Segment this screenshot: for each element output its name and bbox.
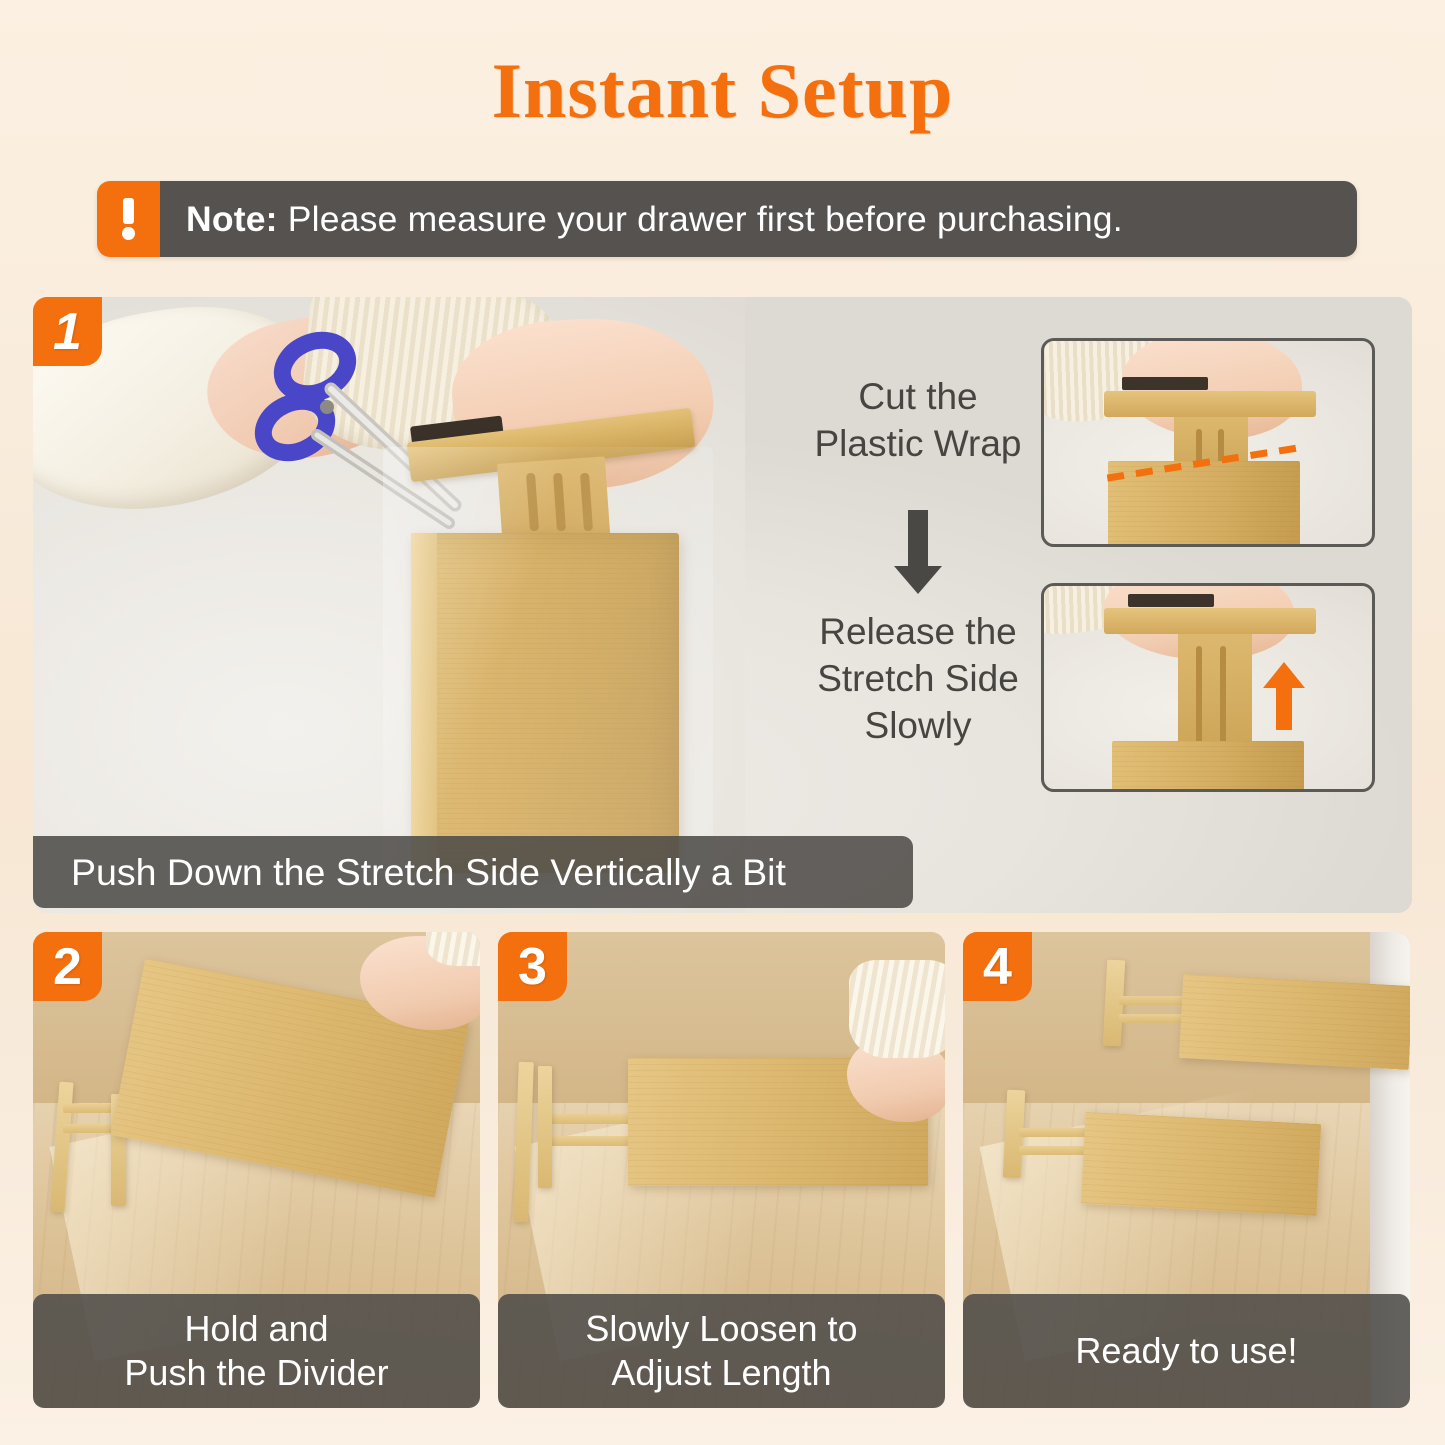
- step-1-panel: Cut the Plastic Wrap Release the Stretch…: [33, 297, 1412, 913]
- step-3-caption: Slowly Loosen to Adjust Length: [498, 1294, 945, 1408]
- inset-top-cap: [1104, 391, 1316, 417]
- step-1-caption: Push Down the Stretch Side Vertically a …: [33, 836, 913, 908]
- step-badge-4: 4: [963, 932, 1032, 1001]
- inset-board: [1112, 741, 1304, 792]
- instruction-line-3: Release the: [768, 608, 1068, 655]
- page-title-container: Instant Setup: [0, 46, 1445, 136]
- inset-slot-2: [1220, 646, 1226, 746]
- step-badge-1: 1: [33, 297, 102, 366]
- instruction-line-5: Slowly: [768, 702, 1068, 749]
- divider-rail-1: [538, 1114, 636, 1124]
- down-arrow-icon: [908, 510, 928, 568]
- instruction-line-2: Plastic Wrap: [768, 420, 1068, 467]
- note-body: Note: Please measure your drawer first b…: [160, 181, 1357, 257]
- push-down-inset: [1041, 338, 1375, 547]
- step-badge-2: 2: [33, 932, 102, 1001]
- step-number-1: 1: [53, 306, 82, 358]
- orange-up-arrow-icon: [1276, 686, 1292, 730]
- inset-neck: [1178, 634, 1252, 752]
- exclamation-icon: [122, 198, 135, 240]
- inset-cap-dark: [1122, 377, 1208, 390]
- divider-2-board: [1081, 1112, 1321, 1216]
- step-number-4: 4: [983, 941, 1012, 993]
- exclamation-badge: [97, 181, 160, 257]
- inset-cap-dark: [1128, 594, 1214, 607]
- divider-stub: [538, 1066, 552, 1188]
- divider-body-edge: [411, 533, 437, 873]
- step-2-caption-line-1: Hold and: [124, 1307, 388, 1351]
- step-4-caption: Ready to use!: [963, 1294, 1410, 1408]
- release-up-inset: [1041, 583, 1375, 792]
- step-3-caption-line-2: Adjust Length: [585, 1351, 857, 1395]
- step-1-caption-text: Push Down the Stretch Side Vertically a …: [71, 851, 786, 894]
- divider-rail-2: [538, 1136, 636, 1146]
- divider-1-board: [1179, 974, 1410, 1070]
- instruction-line-1: Cut the: [768, 373, 1068, 420]
- step-badge-3: 3: [498, 932, 567, 1001]
- instruction-line-4: Stretch Side: [768, 655, 1068, 702]
- step-2-caption: Hold and Push the Divider: [33, 1294, 480, 1408]
- step-1-instructions: Cut the Plastic Wrap Release the Stretch…: [768, 373, 1068, 750]
- step-4-caption-line-1: Ready to use!: [1075, 1329, 1297, 1373]
- sleeve: [849, 960, 945, 1058]
- note-text: Note: Please measure your drawer first b…: [186, 199, 1123, 240]
- note-banner: Note: Please measure your drawer first b…: [97, 181, 1357, 257]
- inset-slot-1: [1196, 646, 1202, 746]
- step-3-caption-line-1: Slowly Loosen to: [585, 1307, 857, 1351]
- step-2-caption-line-2: Push the Divider: [124, 1351, 388, 1395]
- page-title: Instant Setup: [0, 46, 1445, 136]
- step-1-photo: [33, 297, 745, 913]
- step-number-3: 3: [518, 941, 547, 993]
- step-number-2: 2: [53, 941, 82, 993]
- divider-body-board: [411, 533, 679, 873]
- inset-top-cap: [1104, 608, 1316, 634]
